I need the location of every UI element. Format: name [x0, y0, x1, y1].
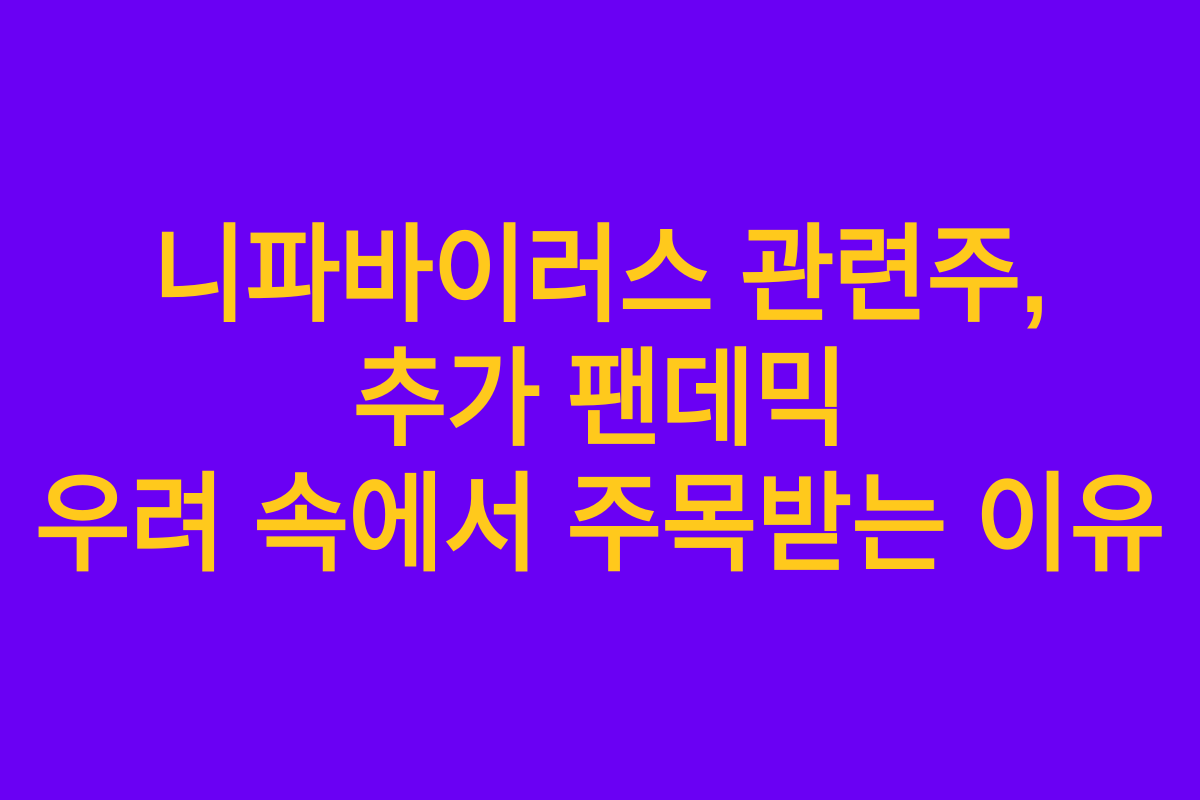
headline-line-1: 니파바이러스 관련주,	[34, 214, 1167, 338]
headline-line-2: 추가 팬데믹	[34, 338, 1167, 462]
thumbnail-canvas: 니파바이러스 관련주, 추가 팬데믹 우려 속에서 주목받는 이유	[0, 0, 1200, 800]
headline-line-3: 우려 속에서 주목받는 이유	[34, 462, 1167, 586]
headline-block: 니파바이러스 관련주, 추가 팬데믹 우려 속에서 주목받는 이유	[0, 214, 1200, 586]
